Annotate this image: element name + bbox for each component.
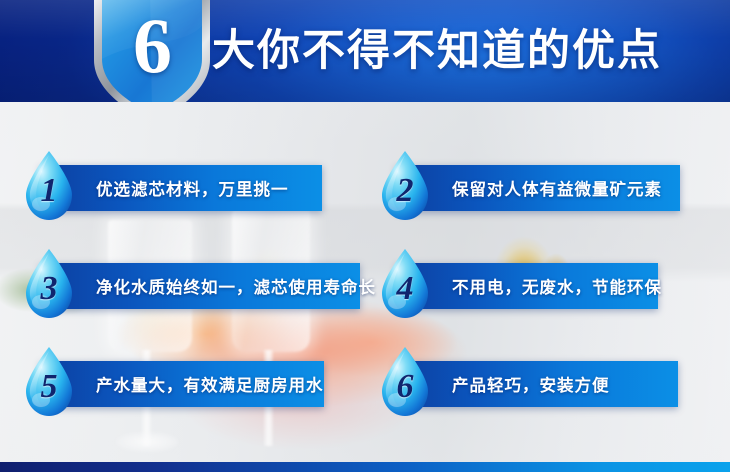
feature-bar: 保留对人体有益微量矿元素 bbox=[396, 165, 680, 211]
feature-label: 产水量大，有效满足厨房用水 bbox=[96, 372, 324, 396]
feature-label: 净化水质始终如一，滤芯使用寿命长 bbox=[96, 274, 376, 298]
feature-number: 3 bbox=[20, 264, 78, 314]
feature-bar: 净化水质始终如一，滤芯使用寿命长 bbox=[40, 263, 360, 309]
water-drop-icon: 5 bbox=[20, 346, 78, 418]
glass-foot-left bbox=[116, 432, 178, 452]
feature-number: 4 bbox=[376, 264, 434, 314]
feature-bar: 优选滤芯材料，万里挑一 bbox=[40, 165, 322, 211]
bottom-stripe bbox=[0, 462, 730, 472]
water-drop-icon: 2 bbox=[376, 150, 434, 222]
feature-number: 1 bbox=[20, 166, 78, 216]
water-drop-icon: 1 bbox=[20, 150, 78, 222]
promo-poster: 6 大你不得不知道的优点 优选滤芯材料，万里挑一 bbox=[0, 0, 730, 472]
feature-number: 5 bbox=[20, 362, 78, 412]
feature-label: 产品轻巧，安装方便 bbox=[452, 372, 610, 396]
feature-bar: 产水量大，有效满足厨房用水 bbox=[40, 361, 324, 407]
feature-bar: 不用电，无废水，节能环保 bbox=[396, 263, 658, 309]
feature-label: 不用电，无废水，节能环保 bbox=[452, 274, 662, 298]
feature-label: 优选滤芯材料，万里挑一 bbox=[96, 176, 289, 200]
water-drop-icon: 6 bbox=[376, 346, 434, 418]
shield-number: 6 bbox=[88, 0, 216, 102]
shield-icon: 6 bbox=[88, 0, 216, 102]
page-title: 大你不得不知道的优点 bbox=[212, 16, 662, 86]
header-banner: 6 大你不得不知道的优点 bbox=[0, 0, 730, 102]
feature-bar: 产品轻巧，安装方便 bbox=[396, 361, 678, 407]
feature-number: 2 bbox=[376, 166, 434, 216]
feature-label: 保留对人体有益微量矿元素 bbox=[452, 176, 662, 200]
water-drop-icon: 4 bbox=[376, 248, 434, 320]
feature-number: 6 bbox=[376, 362, 434, 412]
water-drop-icon: 3 bbox=[20, 248, 78, 320]
